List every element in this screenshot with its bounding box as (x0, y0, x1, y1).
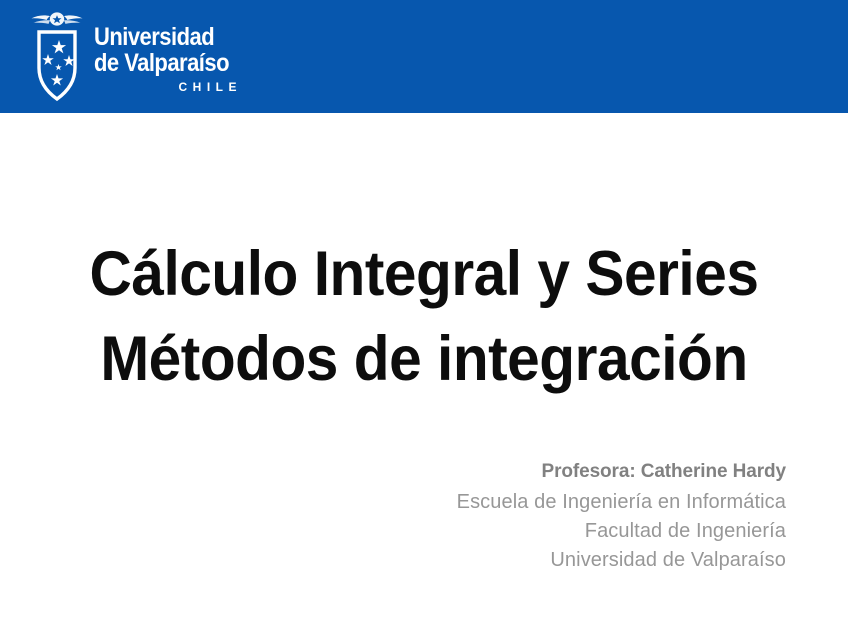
title-line-2: Métodos de integración (30, 317, 819, 402)
subtitle-faculty: Facultad de Ingeniería (0, 517, 786, 546)
header-band: Universidad de Valparaíso CHILE (0, 0, 848, 113)
wordmark-line-valparaiso: de Valparaíso (94, 50, 226, 76)
wordmark-country-chile: CHILE (94, 81, 244, 94)
subtitle-university: Universidad de Valparaíso (0, 546, 786, 575)
title-line-1: Cálculo Integral y Series (30, 232, 819, 317)
subtitle-school: Escuela de Ingeniería en Informática (0, 488, 786, 517)
university-crest-icon (28, 8, 86, 104)
university-wordmark: Universidad de Valparaíso CHILE (94, 24, 244, 94)
title-slide: Universidad de Valparaíso CHILE Cálculo … (0, 0, 848, 636)
university-logo: Universidad de Valparaíso CHILE (28, 8, 243, 108)
page-title: Cálculo Integral y Series Métodos de int… (0, 232, 848, 402)
wordmark-line-universidad: Universidad (94, 24, 226, 50)
subtitle-block: Profesora: Catherine Hardy Escuela de In… (0, 455, 786, 575)
subtitle-professor: Profesora: Catherine Hardy (0, 455, 786, 488)
